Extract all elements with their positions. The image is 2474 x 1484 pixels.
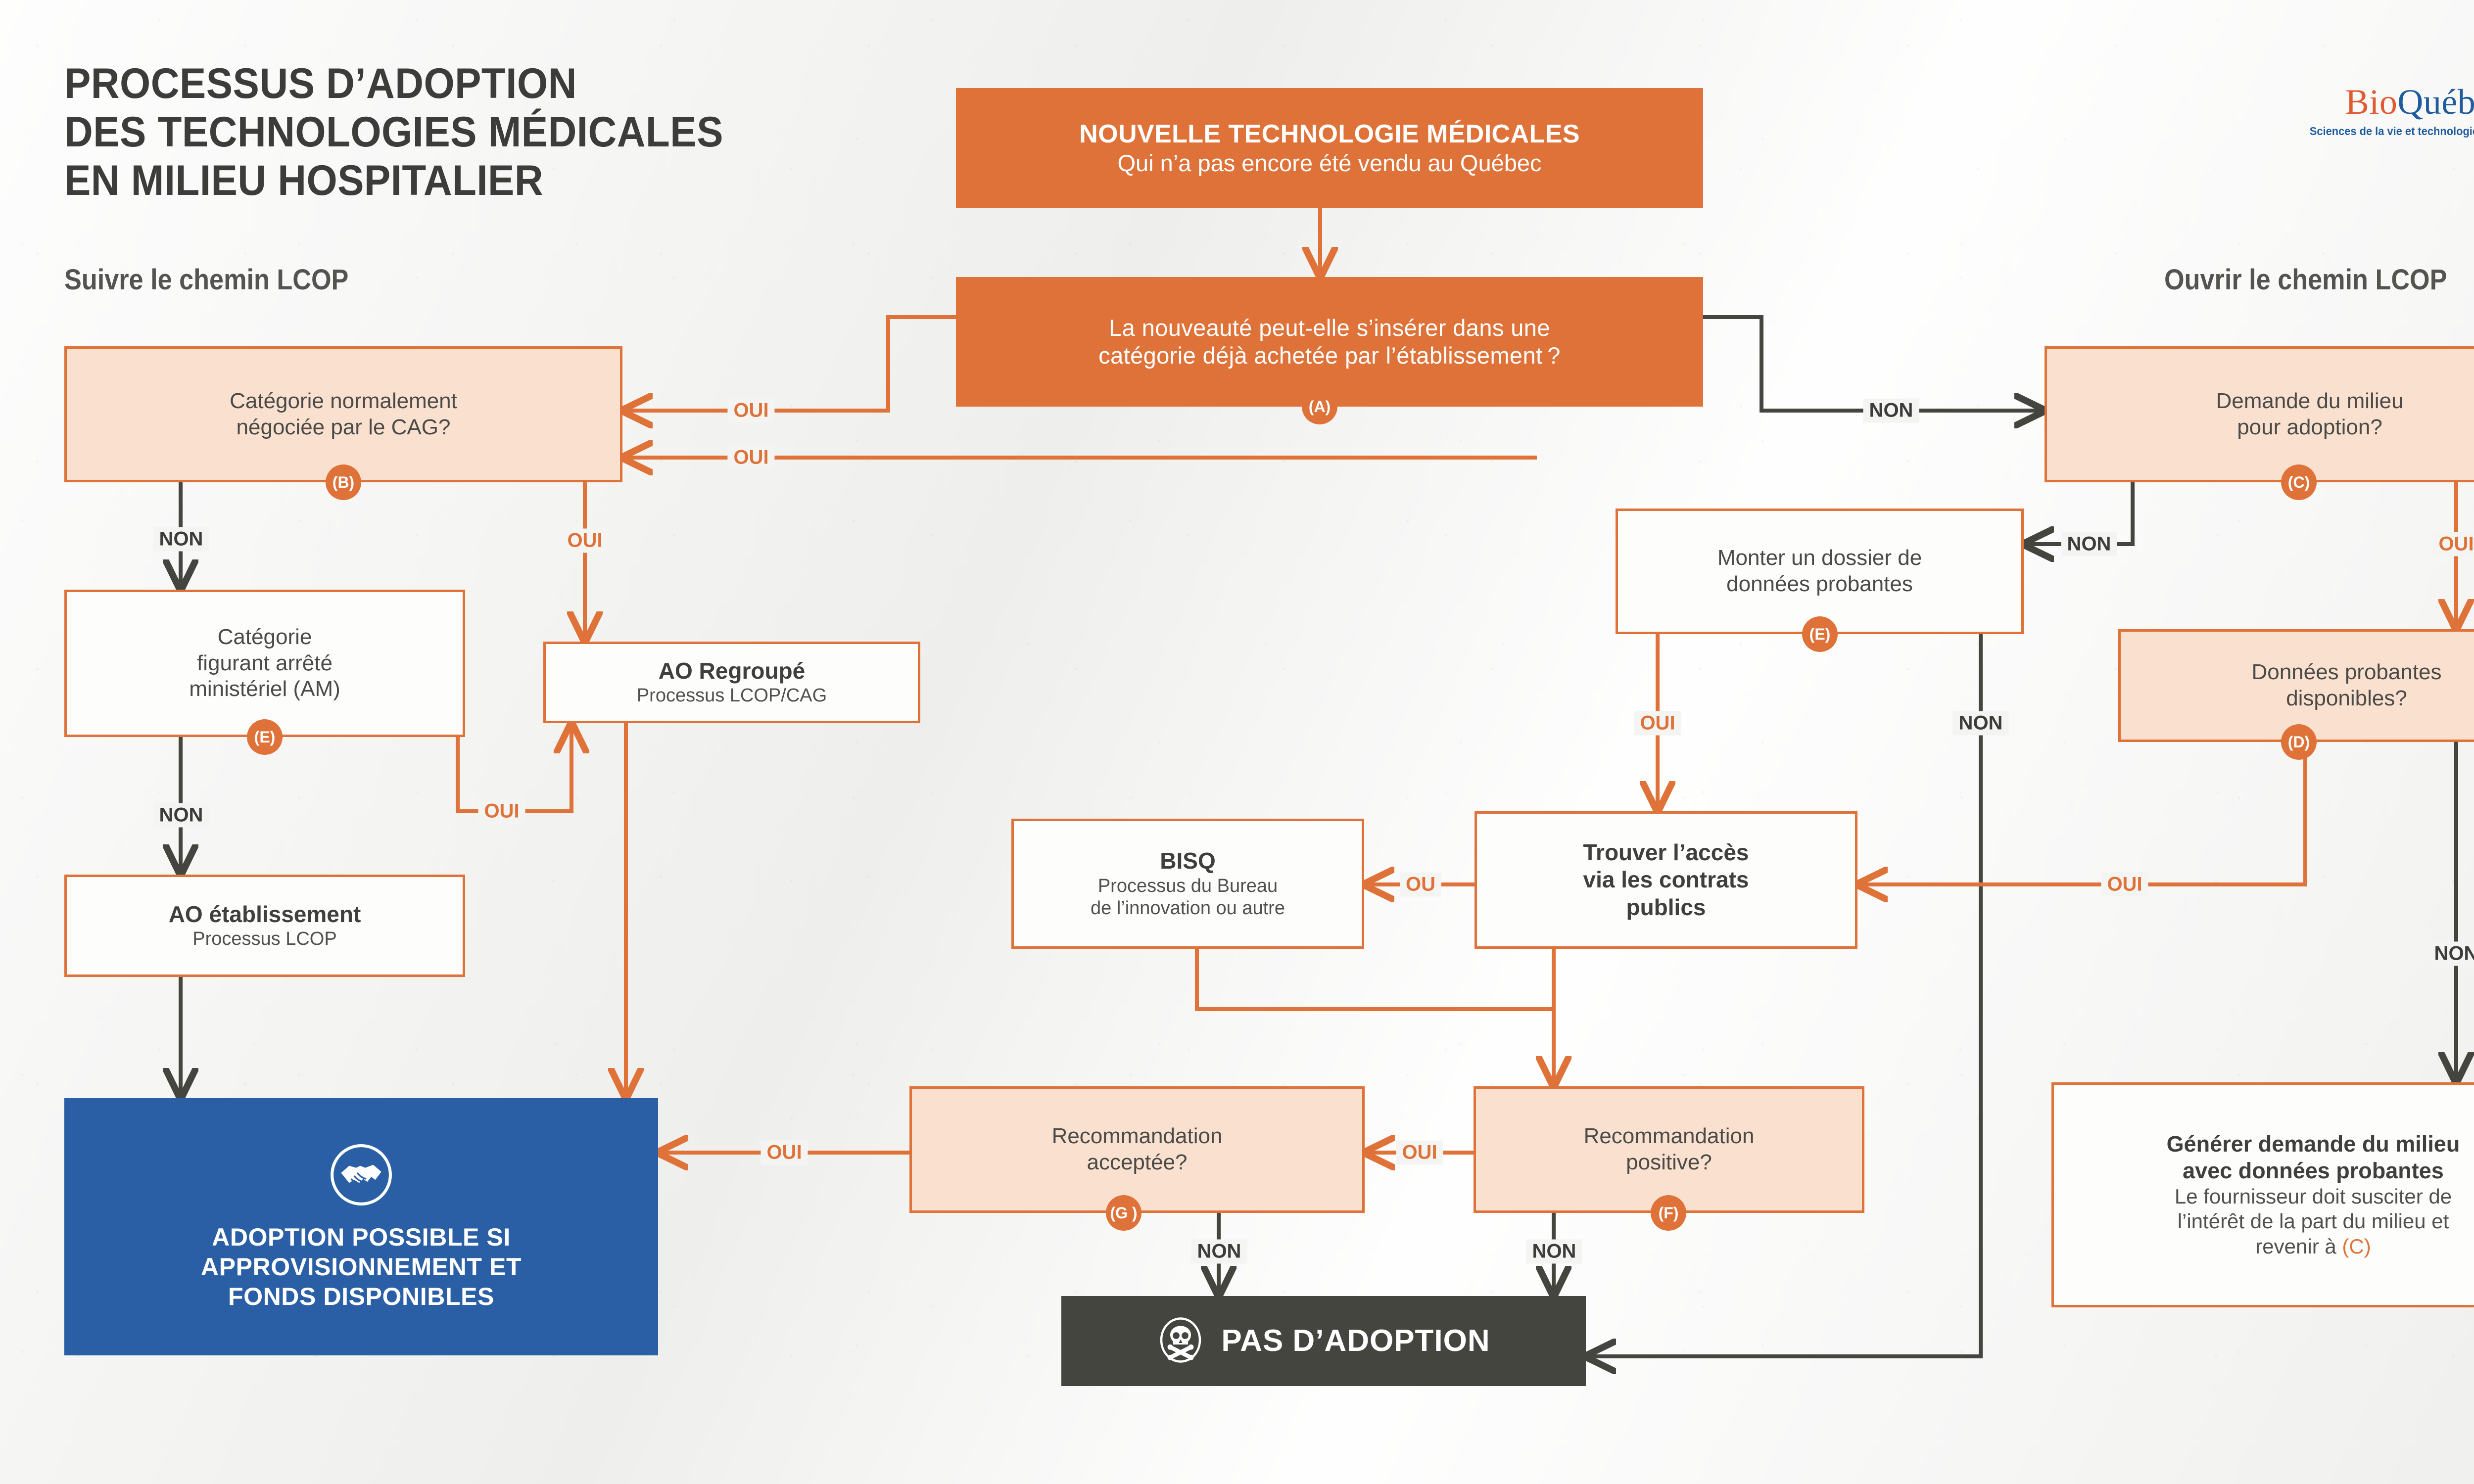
- node-monter-dossier: Monter un dossier de données probantes: [1616, 509, 2024, 634]
- node-generer-demande-ref-c: (C): [2342, 1235, 2371, 1258]
- logo-tagline: Sciences de la vie et technologies de la…: [2300, 125, 2474, 138]
- marker-am-e: (E): [247, 719, 283, 755]
- edge-label-contrats-ou: OU: [1400, 873, 1441, 897]
- node-pas-adoption-title: PAS D’ADOPTION: [1221, 1323, 1490, 1359]
- node-categorie-am-line-3: ministériel (AM): [189, 676, 340, 702]
- node-new-technology-subtitle: Qui n’a pas encore été vendu au Québec: [1117, 149, 1541, 177]
- node-decision-c: Demande du milieu pour adoption?: [2045, 346, 2474, 482]
- page-title-line-3: EN MILIEU HOSPITALIER: [64, 156, 723, 205]
- node-categorie-am: Catégorie figurant arrêté ministériel (A…: [64, 590, 465, 737]
- node-adoption-possible-line-2: APPROVISIONNEMENT ET: [201, 1252, 522, 1282]
- edge-label-reco-positive-non: NON: [1526, 1240, 1582, 1264]
- skull-crossbones-icon: [1157, 1316, 1204, 1366]
- node-ao-regroupe-subtitle: Processus LCOP/CAG: [637, 685, 827, 707]
- edge-label-am-non: NON: [153, 803, 209, 828]
- node-categorie-am-line-2: figurant arrêté: [197, 650, 333, 677]
- logo-bio-text: Bio: [2345, 82, 2398, 122]
- node-pas-adoption: PAS D’ADOPTION: [1061, 1296, 1586, 1386]
- edge-label-b-oui: OUI: [561, 529, 608, 553]
- node-ao-regroupe-title: AO Regroupé: [659, 657, 805, 685]
- node-bisq-subtitle-1: Processus du Bureau: [1098, 875, 1278, 898]
- node-decision-a-line-2: catégorie déjà achetée par l’établisseme…: [1098, 342, 1561, 370]
- node-bisq: BISQ Processus du Bureau de l’innovation…: [1011, 819, 1364, 949]
- node-generer-demande-body-3-text: revenir à: [2255, 1235, 2342, 1258]
- edge-label-am-oui: OUI: [478, 799, 525, 824]
- node-monter-dossier-line-1: Monter un dossier de: [1717, 545, 1922, 571]
- node-generer-demande-title-1: Générer demande du milieu: [2167, 1131, 2460, 1158]
- node-trouver-acces-line-1: Trouver l’accès: [1583, 839, 1749, 866]
- node-adoption-possible-line-1: ADOPTION POSSIBLE SI: [212, 1222, 511, 1252]
- edge-label-d-oui: OUI: [2101, 873, 2148, 897]
- marker-b: (B): [326, 464, 361, 500]
- node-categorie-am-line-1: Catégorie: [218, 624, 312, 650]
- node-trouver-acces-line-2: via les contrats: [1583, 866, 1749, 893]
- node-decision-d-line-1: Données probantes: [2251, 659, 2441, 686]
- node-decision-a: La nouveauté peut-elle s’insérer dans un…: [956, 277, 1703, 407]
- marker-e: (E): [1802, 616, 1838, 652]
- node-decision-b: Catégorie normalement négociée par le CA…: [64, 346, 622, 482]
- edge-label-e-oui: OUI: [1634, 711, 1681, 736]
- node-generer-demande-title-2: avec données probantes: [2183, 1158, 2444, 1184]
- bioquebec-logo: BioQuébec Sciences de la vie et technolo…: [2293, 84, 2474, 138]
- node-new-technology-title: NOUVELLE TECHNOLOGIE MÉDICALES: [1079, 119, 1580, 149]
- node-decision-d-line-2: disponibles?: [2286, 686, 2407, 712]
- node-trouver-acces: Trouver l’accès via les contrats publics: [1475, 811, 1857, 949]
- edge-label-a-non: NON: [1863, 399, 1919, 423]
- node-new-technology: NOUVELLE TECHNOLOGIE MÉDICALES Qui n’a p…: [956, 88, 1703, 208]
- edge-label-reco-acceptee-non: NON: [1191, 1240, 1247, 1264]
- node-decision-reco-positive: Recommandation positive?: [1474, 1086, 1864, 1213]
- subheading-left: Suivre le chemin LCOP: [64, 263, 348, 296]
- node-reco-acceptee-line-2: acceptée?: [1087, 1150, 1187, 1176]
- edge-label-reco-positive-oui: OUI: [1396, 1141, 1443, 1165]
- node-decision-b-line-2: négociée par le CAG?: [237, 415, 451, 441]
- edge-label-b-non: NON: [153, 527, 209, 552]
- page-title: PROCESSUS D’ADOPTION DES TECHNOLOGIES MÉ…: [64, 59, 723, 205]
- node-decision-c-line-1: Demande du milieu: [2216, 388, 2403, 415]
- marker-g: (G ): [1106, 1195, 1142, 1231]
- edge-label-oui-to-b-2: OUI: [727, 446, 774, 470]
- edge-label-c-non: NON: [2061, 532, 2117, 556]
- node-monter-dossier-line-2: données probantes: [1726, 571, 1913, 598]
- subheading-right: Ouvrir le chemin LCOP: [2164, 263, 2447, 296]
- node-generer-demande: Générer demande du milieu avec données p…: [2051, 1082, 2474, 1307]
- node-generer-demande-body-1: Le fournisseur doit susciter de: [2175, 1184, 2452, 1209]
- node-decision-c-line-2: pour adoption?: [2237, 415, 2382, 441]
- node-decision-b-line-1: Catégorie normalement: [230, 388, 457, 415]
- node-reco-acceptee-line-1: Recommandation: [1052, 1123, 1223, 1150]
- node-ao-regroupe: AO Regroupé Processus LCOP/CAG: [543, 642, 920, 723]
- logo-wordmark: BioQuébec: [2293, 84, 2474, 120]
- node-bisq-subtitle-2: de l’innovation ou autre: [1091, 897, 1285, 920]
- edge-label-a-oui: OUI: [727, 399, 774, 423]
- node-ao-etablissement: AO établissement Processus LCOP: [64, 875, 465, 977]
- logo-quebec-text: Québec: [2397, 82, 2474, 122]
- edge-label-e-non: NON: [1953, 711, 2009, 736]
- edge-label-reco-acceptee-oui: OUI: [761, 1141, 808, 1165]
- edge-label-d-non: NON: [2428, 942, 2474, 966]
- node-reco-positive-line-2: positive?: [1626, 1150, 1712, 1176]
- marker-f: (F): [1651, 1195, 1686, 1231]
- node-bisq-title: BISQ: [1160, 847, 1215, 875]
- node-ao-etablissement-subtitle: Processus LCOP: [192, 928, 336, 951]
- node-ao-etablissement-title: AO établissement: [169, 901, 361, 928]
- marker-a: (A): [1302, 389, 1337, 424]
- page-title-line-1: PROCESSUS D’ADOPTION: [64, 59, 723, 108]
- node-generer-demande-body-3: revenir à (C): [2255, 1234, 2371, 1259]
- handshake-icon: [329, 1143, 393, 1209]
- node-adoption-possible: ADOPTION POSSIBLE SI APPROVISIONNEMENT E…: [64, 1098, 658, 1355]
- node-decision-reco-acceptee: Recommandation acceptée?: [909, 1086, 1365, 1213]
- marker-d: (D): [2281, 724, 2317, 760]
- node-adoption-possible-line-3: FONDS DISPONIBLES: [228, 1282, 494, 1311]
- edge-label-c-oui: OUI: [2432, 532, 2474, 556]
- node-reco-positive-line-1: Recommandation: [1584, 1123, 1755, 1150]
- marker-c: (C): [2281, 464, 2317, 500]
- node-decision-a-line-1: La nouveauté peut-elle s’insérer dans un…: [1109, 314, 1550, 342]
- node-generer-demande-body-2: l’intérêt de la part du milieu et: [2178, 1209, 2449, 1234]
- node-trouver-acces-line-3: publics: [1626, 894, 1706, 921]
- page-title-line-2: DES TECHNOLOGIES MÉDICALES: [64, 108, 723, 156]
